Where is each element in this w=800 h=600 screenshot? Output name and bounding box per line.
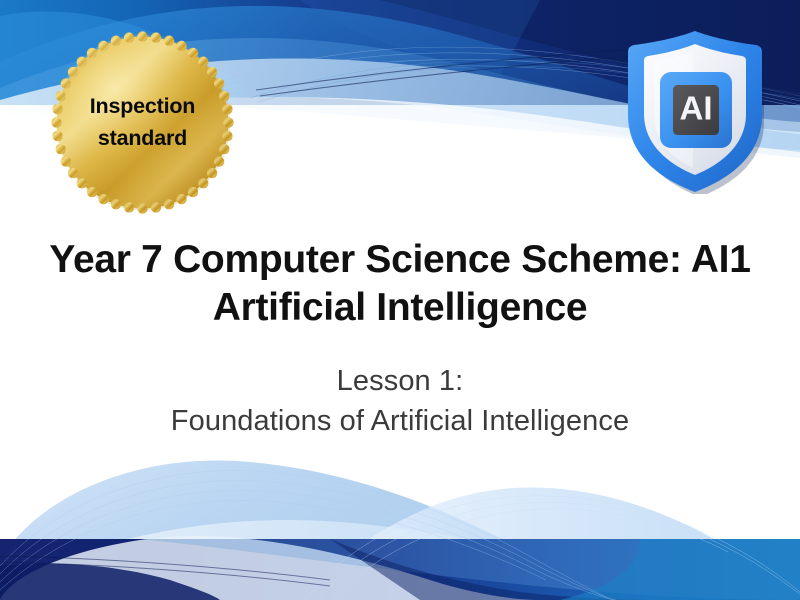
subtitle-line-2: Foundations of Artificial Intelligence (40, 401, 760, 441)
chip-ai-label: AI (680, 90, 713, 127)
ai-chip-shield-icon: AI (620, 30, 776, 194)
subtitle-line-1: Lesson 1: (40, 361, 760, 401)
slide-text-content: Year 7 Computer Science Scheme: AI1 Arti… (0, 236, 800, 441)
page-title: Year 7 Computer Science Scheme: AI1 Arti… (0, 236, 800, 333)
slide-canvas: Inspection standard (0, 0, 800, 600)
inspection-standard-badge: Inspection standard (51, 31, 234, 214)
badge-line-1: Inspection (90, 91, 196, 122)
badge-text: Inspection standard (51, 31, 234, 214)
ai-chip-shield: AI (620, 30, 776, 194)
slide-subtitle: Lesson 1: Foundations of Artificial Inte… (0, 361, 800, 441)
badge-line-2: standard (98, 123, 187, 154)
